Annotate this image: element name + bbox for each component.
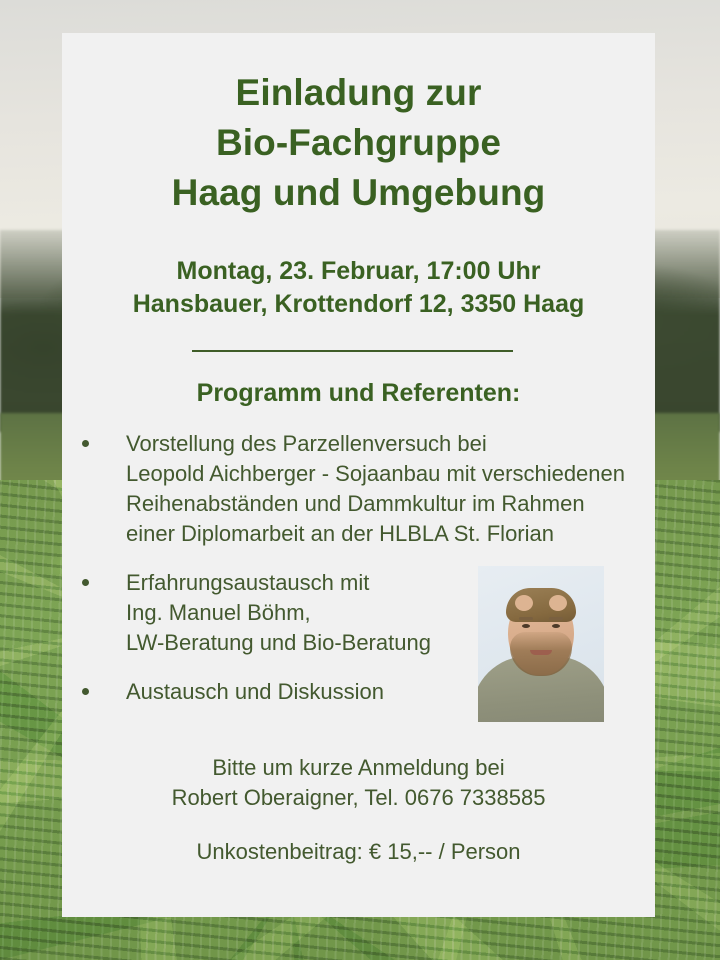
poster: Einladung zur Bio-Fachgruppe Haag und Um… bbox=[0, 0, 720, 960]
fee-info: Unkostenbeitrag: € 15,-- / Person bbox=[62, 837, 655, 867]
page-title: Einladung zur Bio-Fachgruppe Haag und Um… bbox=[62, 68, 655, 218]
title-line-2: Bio-Fachgruppe bbox=[62, 118, 655, 168]
portrait-eyebrow-right bbox=[549, 617, 563, 620]
list-item: Vorstellung des Parzellenversuch bei Leo… bbox=[75, 429, 655, 549]
portrait-eye-left bbox=[522, 624, 530, 628]
registration-info: Bitte um kurze Anmeldung bei Robert Ober… bbox=[62, 753, 655, 813]
event-details: Montag, 23. Februar, 17:00 Uhr Hansbauer… bbox=[62, 255, 655, 321]
flyer-panel-inner: Einladung zur Bio-Fachgruppe Haag und Um… bbox=[62, 33, 655, 917]
bullet-dot-icon bbox=[82, 440, 89, 447]
bullet-dot-icon bbox=[82, 579, 89, 586]
portrait-hair bbox=[506, 588, 576, 622]
event-location: Hansbauer, Krottendorf 12, 3350 Haag bbox=[62, 288, 655, 321]
registration-contact: Robert Oberaigner, Tel. 0676 7338585 bbox=[62, 783, 655, 813]
event-datetime: Montag, 23. Februar, 17:00 Uhr bbox=[62, 255, 655, 288]
registration-line-1: Bitte um kurze Anmeldung bei bbox=[62, 753, 655, 783]
bullet-1-line-3: Reihenabständen und Dammkultur im Rahmen bbox=[126, 489, 655, 519]
bullet-1-line-2: Leopold Aichberger - Sojaanbau mit versc… bbox=[126, 459, 655, 489]
section-divider bbox=[192, 350, 513, 352]
flyer-panel: Einladung zur Bio-Fachgruppe Haag und Um… bbox=[62, 33, 655, 917]
section-heading-programm: Programm und Referenten: bbox=[62, 378, 655, 408]
title-line-1: Einladung zur bbox=[62, 68, 655, 118]
bullet-1-line-1: Vorstellung des Parzellenversuch bei bbox=[126, 429, 655, 459]
speaker-portrait-photo bbox=[478, 566, 604, 722]
bullet-1-line-4: einer Diplomarbeit an der HLBLA St. Flor… bbox=[126, 519, 655, 549]
portrait-mouth bbox=[530, 650, 552, 655]
bullet-dot-icon bbox=[82, 688, 89, 695]
title-line-3: Haag und Umgebung bbox=[62, 168, 655, 218]
portrait-eyebrow-left bbox=[519, 617, 533, 620]
portrait-eye-right bbox=[552, 624, 560, 628]
